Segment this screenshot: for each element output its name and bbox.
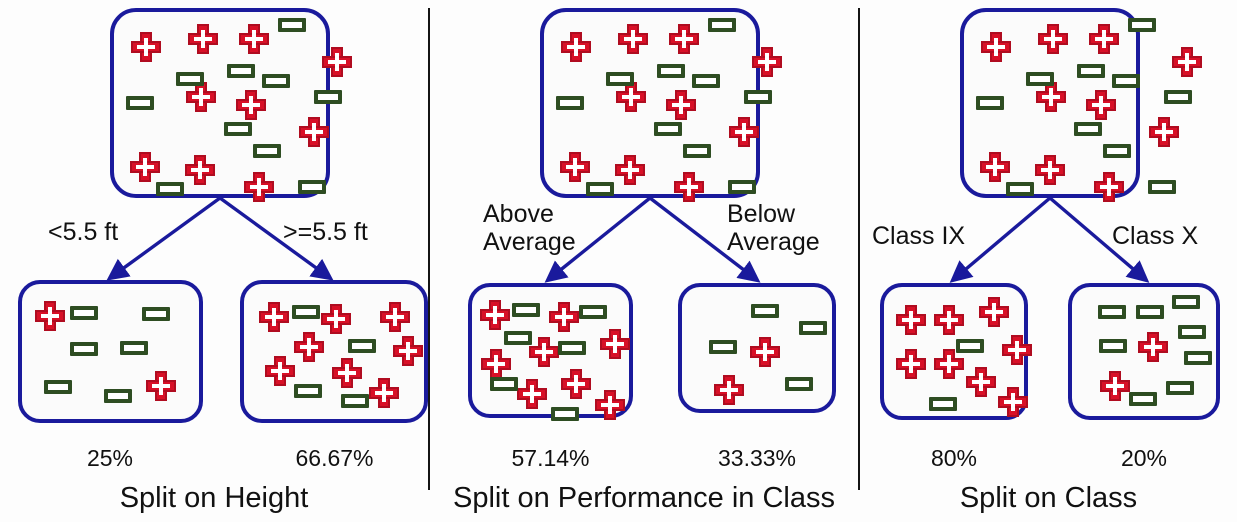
minus-symbol (556, 96, 584, 110)
decision-tree-diagram: <5.5 ft >=5.5 ft 25% 66.67% Split on Hei… (0, 0, 1237, 522)
minus-symbol (1164, 90, 1192, 104)
plus-symbol (130, 152, 160, 182)
edge-label-performance-left: Above Average (483, 200, 613, 256)
minus-symbol (1136, 305, 1164, 319)
plus-symbol (752, 47, 782, 77)
plus-symbol (616, 82, 646, 112)
child-node-class-x[interactable] (1068, 283, 1220, 420)
minus-symbol (490, 377, 518, 391)
plus-symbol (239, 24, 269, 54)
percent-label-class-x: 20% (1068, 445, 1220, 472)
plus-symbol (1100, 371, 1130, 401)
child-node-class-ix[interactable] (880, 283, 1028, 420)
minus-symbol (1006, 182, 1034, 196)
minus-symbol (799, 321, 827, 335)
minus-symbol (558, 341, 586, 355)
plus-symbol (750, 337, 780, 367)
plus-symbol (896, 305, 926, 335)
plus-symbol (674, 172, 704, 202)
minus-symbol (70, 342, 98, 356)
minus-symbol (551, 407, 579, 421)
plus-symbol (131, 32, 161, 62)
plus-symbol (1002, 335, 1032, 365)
plus-symbol (934, 349, 964, 379)
panel-divider-right (858, 8, 860, 490)
section-caption-split-on-performance: Split on Performance in Class (430, 482, 858, 515)
plus-symbol (1138, 332, 1168, 362)
plus-symbol (380, 302, 410, 332)
minus-symbol (1128, 18, 1156, 32)
minus-symbol (1172, 295, 1200, 309)
minus-symbol (120, 341, 148, 355)
plus-symbol (1035, 155, 1065, 185)
minus-symbol (1077, 64, 1105, 78)
plus-symbol (1086, 90, 1116, 120)
plus-symbol (185, 155, 215, 185)
minus-symbol (227, 64, 255, 78)
plus-symbol (332, 358, 362, 388)
minus-symbol (751, 304, 779, 318)
plus-symbol (322, 47, 352, 77)
minus-symbol (1103, 144, 1131, 158)
percent-label-above-average: 57.14% (468, 445, 633, 472)
minus-symbol (1074, 122, 1102, 136)
root-node-class[interactable] (960, 8, 1140, 198)
minus-symbol (657, 64, 685, 78)
minus-symbol (126, 96, 154, 110)
minus-symbol (262, 74, 290, 88)
minus-symbol (292, 305, 320, 319)
plus-symbol (244, 172, 274, 202)
minus-symbol (298, 180, 326, 194)
percent-label-below-average: 33.33% (678, 445, 836, 472)
minus-symbol (708, 18, 736, 32)
minus-symbol (314, 90, 342, 104)
minus-symbol (70, 306, 98, 320)
minus-symbol (224, 122, 252, 136)
plus-symbol (966, 367, 996, 397)
plus-symbol (35, 301, 65, 331)
section-caption-split-on-height: Split on Height (0, 482, 428, 515)
plus-symbol (1089, 24, 1119, 54)
plus-symbol (561, 32, 591, 62)
minus-symbol (709, 340, 737, 354)
plus-symbol (729, 117, 759, 147)
plus-symbol (1038, 24, 1068, 54)
plus-symbol (595, 390, 625, 420)
plus-symbol (321, 304, 351, 334)
plus-symbol (618, 24, 648, 54)
minus-symbol (278, 18, 306, 32)
plus-symbol (517, 379, 547, 409)
plus-symbol (981, 32, 1011, 62)
plus-symbol (369, 378, 399, 408)
plus-symbol (393, 336, 423, 366)
plus-symbol (480, 300, 510, 330)
minus-symbol (586, 182, 614, 196)
plus-symbol (259, 302, 289, 332)
percent-label-under-5-5-ft: 25% (20, 445, 200, 472)
edge-label-performance-right: Below Average (727, 200, 857, 256)
plus-symbol (236, 90, 266, 120)
plus-symbol (998, 387, 1028, 417)
plus-symbol (146, 371, 176, 401)
minus-symbol (142, 307, 170, 321)
root-node-performance[interactable] (540, 8, 760, 198)
minus-symbol (744, 90, 772, 104)
minus-symbol (512, 303, 540, 317)
minus-symbol (504, 331, 532, 345)
edge-label-height-left: <5.5 ft (48, 218, 198, 246)
plus-symbol (980, 152, 1010, 182)
plus-symbol (600, 329, 630, 359)
plus-symbol (561, 369, 591, 399)
plus-symbol (188, 24, 218, 54)
minus-symbol (692, 74, 720, 88)
minus-symbol (1098, 305, 1126, 319)
plus-symbol (560, 152, 590, 182)
minus-symbol (683, 144, 711, 158)
percent-label-over-5-5-ft: 66.67% (242, 445, 427, 472)
root-node-height[interactable] (110, 8, 330, 198)
minus-symbol (341, 394, 369, 408)
plus-symbol (1149, 117, 1179, 147)
edge-label-class-left: Class IX (872, 222, 1012, 250)
minus-symbol (956, 339, 984, 353)
plus-symbol (934, 305, 964, 335)
plus-symbol (549, 302, 579, 332)
minus-symbol (606, 72, 634, 86)
minus-symbol (785, 377, 813, 391)
minus-symbol (104, 389, 132, 403)
edge-label-height-right: >=5.5 ft (283, 218, 443, 246)
plus-symbol (299, 117, 329, 147)
plus-symbol (186, 82, 216, 112)
plus-symbol (1094, 172, 1124, 202)
plus-symbol (265, 356, 295, 386)
plus-symbol (979, 297, 1009, 327)
minus-symbol (1026, 72, 1054, 86)
plus-symbol (615, 155, 645, 185)
plus-symbol (529, 337, 559, 367)
minus-symbol (654, 122, 682, 136)
plus-symbol (714, 375, 744, 405)
plus-symbol (294, 332, 324, 362)
plus-symbol (896, 349, 926, 379)
child-node-under-5-5-ft[interactable] (18, 280, 203, 423)
minus-symbol (976, 96, 1004, 110)
child-node-below-average[interactable] (678, 283, 836, 413)
minus-symbol (728, 180, 756, 194)
minus-symbol (44, 380, 72, 394)
minus-symbol (348, 339, 376, 353)
edge-label-class-right: Class X (1112, 222, 1237, 250)
plus-symbol (666, 90, 696, 120)
minus-symbol (1129, 392, 1157, 406)
plus-symbol (669, 24, 699, 54)
child-node-over-5-5-ft[interactable] (240, 280, 428, 423)
percent-label-class-ix: 80% (880, 445, 1028, 472)
minus-symbol (1148, 180, 1176, 194)
plus-symbol (1172, 47, 1202, 77)
minus-symbol (1112, 74, 1140, 88)
minus-symbol (253, 144, 281, 158)
minus-symbol (1099, 339, 1127, 353)
plus-symbol (481, 349, 511, 379)
minus-symbol (1184, 351, 1212, 365)
panel-divider-left (428, 8, 430, 490)
child-node-above-average[interactable] (468, 283, 633, 418)
minus-symbol (1166, 381, 1194, 395)
minus-symbol (294, 384, 322, 398)
minus-symbol (929, 397, 957, 411)
minus-symbol (176, 72, 204, 86)
minus-symbol (579, 305, 607, 319)
minus-symbol (1178, 325, 1206, 339)
section-caption-split-on-class: Split on Class (860, 482, 1237, 515)
minus-symbol (156, 182, 184, 196)
plus-symbol (1036, 82, 1066, 112)
